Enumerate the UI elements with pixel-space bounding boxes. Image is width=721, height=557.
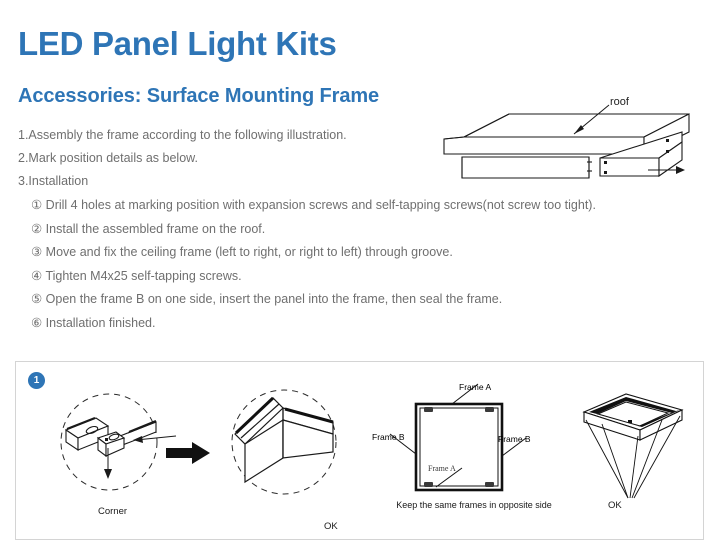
page-title: LED Panel Light Kits [18, 27, 337, 60]
figure-box: 1 [15, 361, 704, 540]
substep-item: ③ Move and fix the ceiling frame (left t… [18, 241, 678, 265]
frame-a-top-label: Frame A [459, 382, 491, 392]
substep-item: ② Install the assembled frame on the roo… [18, 218, 678, 242]
substep-item: ⑥ Installation finished. [18, 312, 678, 336]
corner-caption: Corner [98, 506, 127, 517]
substep-item: ④ Tighten M4x25 self-tapping screws. [18, 265, 678, 289]
corner-result-illustration: OK [211, 380, 371, 530]
substep-item: ⑤ Open the frame B on one side, insert t… [18, 288, 678, 312]
corner-result-caption: OK [324, 521, 338, 532]
frame-a-bottom-label: Frame A [428, 464, 456, 473]
process-arrow [166, 442, 210, 464]
roof-illustration [404, 92, 704, 192]
frame-layout-caption: Keep the same frames in opposite side [374, 500, 574, 510]
frame-b-right-label: Frame B [498, 434, 531, 444]
assembled-frame-caption: OK [608, 500, 622, 511]
document-page: LED Panel Light Kits Accessories: Surfac… [0, 0, 721, 557]
frame-b-left-label: Frame B [372, 432, 405, 442]
substep-item: ① Drill 4 holes at marking position with… [18, 194, 678, 218]
substep-list: ① Drill 4 holes at marking position with… [18, 194, 678, 335]
frame-layout-illustration: Frame A Frame B Frame B Frame A Keep the… [374, 372, 574, 532]
page-subtitle: Accessories: Surface Mounting Frame [18, 86, 379, 106]
assembled-frame-illustration: OK [576, 376, 696, 531]
